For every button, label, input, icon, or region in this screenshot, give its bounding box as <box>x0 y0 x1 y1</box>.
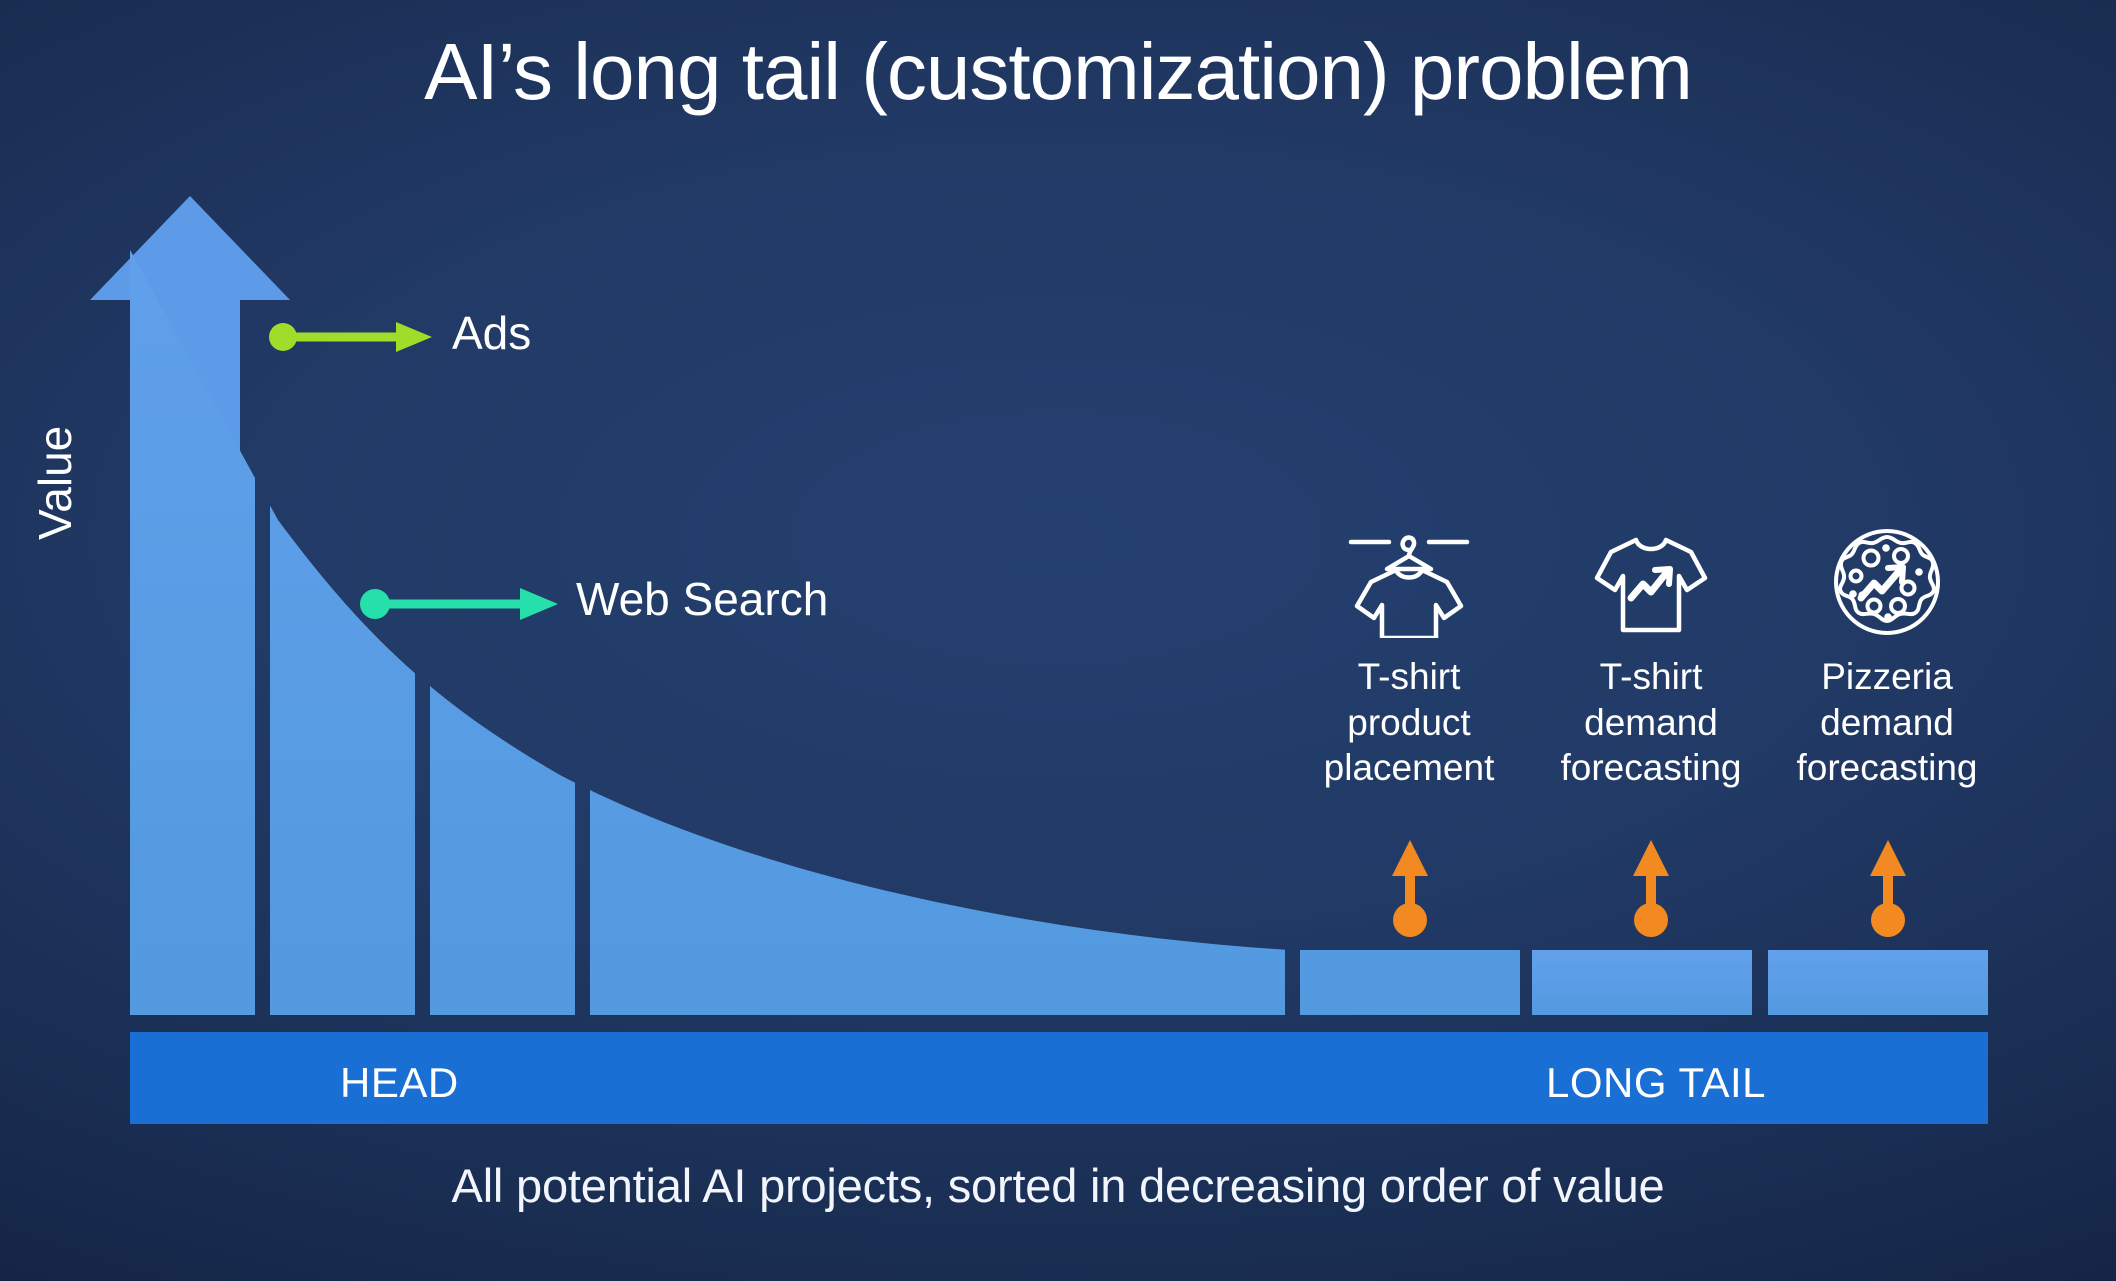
tail-item-label: Pizzeria demand forecasting <box>1772 654 2002 791</box>
tail-marker-0 <box>1392 840 1428 937</box>
callout-label-ads: Ads <box>452 306 531 360</box>
band-label-long-tail: LONG TAIL <box>1546 1059 1766 1107</box>
tail-item-tshirt-product-placement: T-shirt product placement <box>1294 518 1524 791</box>
pizza-trending-chart-icon <box>1831 526 1943 638</box>
tshirt-trending-chart-icon <box>1591 526 1711 638</box>
long-tail-bars-group <box>1532 950 1988 1015</box>
callout-label-web-search: Web Search <box>576 572 828 626</box>
tail-marker-2 <box>1870 840 1906 937</box>
web-search-connector <box>360 588 558 620</box>
band-label-head: HEAD <box>340 1059 459 1107</box>
tail-item-label: T-shirt product placement <box>1294 654 1524 791</box>
tail-item-pizzeria-demand-forecasting: Pizzeria demand forecasting <box>1772 518 2002 791</box>
tail-item-label: T-shirt demand forecasting <box>1536 654 1766 791</box>
bar-2 <box>270 160 415 1015</box>
tshirt-on-hanger-icon <box>1343 526 1475 638</box>
tail-marker-1 <box>1633 840 1669 937</box>
bar-tail-2 <box>1532 950 1752 1015</box>
slide-canvas: AI’s long tail (customization) problem V… <box>0 0 2116 1281</box>
icon-container <box>1772 518 2002 638</box>
bar-3 <box>430 160 575 1015</box>
bar-tail-3 <box>1768 950 1988 1015</box>
tail-item-tshirt-demand-forecasting: T-shirt demand forecasting <box>1536 518 1766 791</box>
ads-connector <box>269 322 432 352</box>
chart-caption: All potential AI projects, sorted in dec… <box>0 1158 2116 1213</box>
icon-container <box>1294 518 1524 638</box>
icon-container <box>1536 518 1766 638</box>
